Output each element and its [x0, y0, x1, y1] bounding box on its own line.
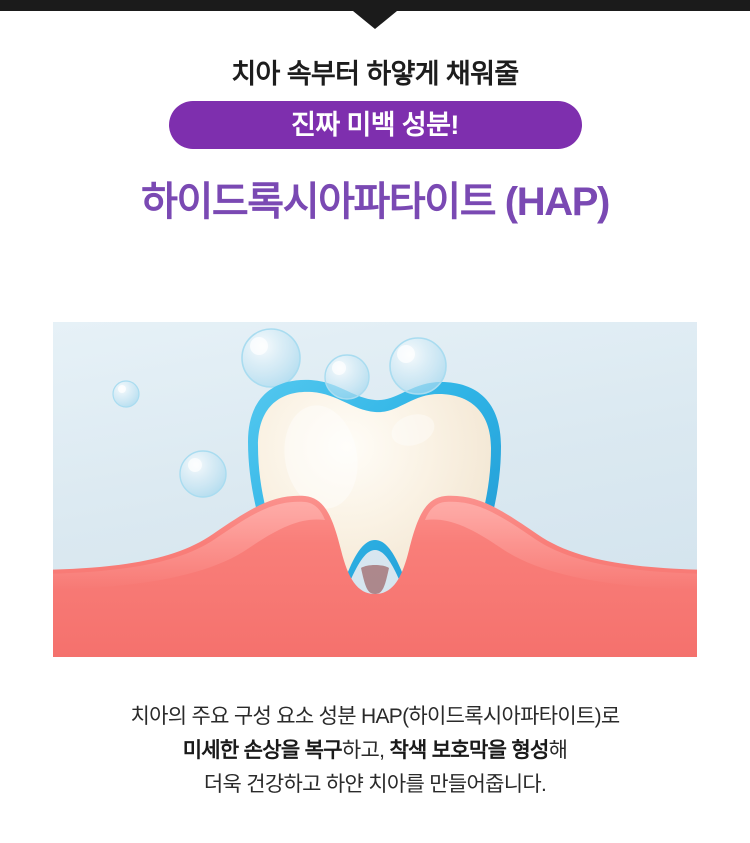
page-title: 하이드록시아파타이트 (HAP) — [0, 179, 750, 225]
bubble-highlight — [118, 385, 126, 393]
top-black-bar — [0, 0, 750, 11]
caption-line-1: 치아의 주요 구성 요소 성분 HAP(하이드록시아파타이트)로 — [0, 700, 750, 734]
bubble-highlight — [188, 458, 202, 472]
caption-tail: 해 — [549, 739, 568, 762]
bubble-icon — [113, 381, 139, 407]
down-arrow-notch-icon — [353, 11, 397, 29]
caption-bold-1: 미세한 손상을 복구 — [183, 739, 342, 762]
bubble-icon — [325, 355, 369, 399]
bubble-icon — [180, 451, 226, 497]
bubble-highlight — [250, 337, 268, 355]
bubble-icon — [390, 338, 446, 394]
caption-line-2: 미세한 손상을 복구하고, 착색 보호막을 형성해 — [0, 734, 750, 768]
caption-mid: 하고, — [342, 739, 390, 762]
bubble-highlight — [332, 361, 346, 375]
header-section: 치아 속부터 하얗게 채워줄 진짜 미백 성분! 하이드록시아파타이트 (HAP… — [0, 58, 750, 225]
tooth-illustration — [53, 322, 697, 657]
caption-bold-2: 착색 보호막을 형성 — [389, 739, 548, 762]
highlight-badge: 진짜 미백 성분! — [169, 101, 582, 149]
bubble-icon — [242, 329, 300, 387]
caption-block: 치아의 주요 구성 요소 성분 HAP(하이드록시아파타이트)로 미세한 손상을… — [0, 700, 750, 802]
caption-line-3: 더욱 건강하고 하얀 치아를 만들어줍니다. — [0, 768, 750, 802]
bubble-highlight — [397, 345, 415, 363]
eyebrow-text: 치아 속부터 하얗게 채워줄 — [0, 58, 750, 90]
tooth-illustration-svg — [53, 322, 697, 657]
